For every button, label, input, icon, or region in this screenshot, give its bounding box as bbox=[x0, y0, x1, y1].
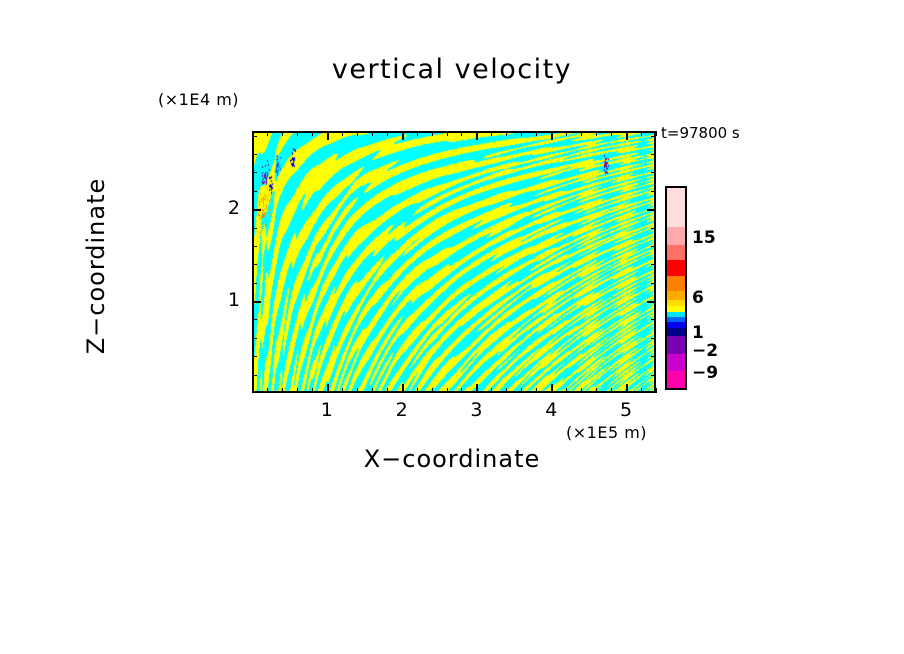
tick-x-minor bbox=[432, 388, 433, 393]
tick-x-major-top bbox=[626, 131, 628, 140]
colorbar-band bbox=[667, 336, 685, 353]
y-axis-title: Z−coordinate bbox=[82, 106, 110, 426]
tick-x-minor bbox=[566, 388, 567, 393]
tick-y-minor-right bbox=[651, 228, 656, 229]
x-tick-label: 1 bbox=[307, 399, 347, 421]
tick-y-minor-right bbox=[651, 375, 656, 376]
tick-x-minor-top bbox=[297, 131, 298, 136]
x-axis-unit-label: (×1E5 m) bbox=[566, 423, 647, 442]
tick-x-minor bbox=[536, 388, 537, 393]
tick-y-minor bbox=[252, 375, 257, 376]
colorbar-tick-label: −9 bbox=[692, 363, 718, 383]
tick-x-major-top bbox=[476, 131, 478, 140]
tick-y-minor bbox=[252, 172, 257, 173]
tick-x-major bbox=[327, 384, 329, 393]
tick-x-major-top bbox=[551, 131, 553, 140]
tick-y-minor-right bbox=[651, 319, 656, 320]
colorbar-band bbox=[667, 227, 685, 244]
tick-x-major bbox=[476, 384, 478, 393]
tick-y-minor-right bbox=[651, 172, 656, 173]
tick-x-minor bbox=[267, 388, 268, 393]
tick-x-minor-top bbox=[267, 131, 268, 136]
colorbar-tick-label: 1 bbox=[692, 323, 704, 343]
tick-x-minor-top bbox=[521, 131, 522, 136]
figure-root: vertical velocity (×1E4 m) (×1E5 m) X−co… bbox=[0, 0, 904, 654]
tick-x-minor-top bbox=[656, 131, 657, 136]
tick-y-minor bbox=[252, 191, 257, 192]
colorbar-band bbox=[667, 188, 685, 227]
tick-x-minor-top bbox=[282, 131, 283, 136]
y-tick-label: 1 bbox=[200, 289, 240, 311]
tick-x-major bbox=[626, 384, 628, 393]
tick-y-major-right bbox=[647, 209, 656, 211]
colorbar-band bbox=[667, 260, 685, 276]
tick-x-minor-top bbox=[581, 131, 582, 136]
tick-x-minor bbox=[581, 388, 582, 393]
tick-x-major-top bbox=[402, 131, 404, 140]
tick-y-minor bbox=[252, 356, 257, 357]
tick-y-major-right bbox=[647, 301, 656, 303]
x-tick-label: 3 bbox=[456, 399, 496, 421]
tick-y-minor bbox=[252, 246, 257, 247]
colorbar-band bbox=[667, 328, 685, 337]
tick-x-minor bbox=[357, 388, 358, 393]
tick-y-minor bbox=[252, 319, 257, 320]
tick-x-minor-top bbox=[417, 131, 418, 136]
tick-y-minor-right bbox=[651, 264, 656, 265]
tick-y-major bbox=[252, 209, 261, 211]
tick-x-minor bbox=[521, 388, 522, 393]
tick-y-minor bbox=[252, 154, 257, 155]
tick-x-minor-top bbox=[447, 131, 448, 136]
tick-x-minor bbox=[447, 388, 448, 393]
tick-y-minor-right bbox=[651, 356, 656, 357]
colorbar-band bbox=[667, 354, 685, 371]
tick-y-minor-right bbox=[651, 136, 656, 137]
tick-x-minor-top bbox=[432, 131, 433, 136]
tick-x-minor bbox=[387, 388, 388, 393]
contour-field bbox=[254, 133, 654, 391]
colorbar-band bbox=[667, 371, 685, 388]
tick-y-minor bbox=[252, 228, 257, 229]
tick-x-minor-top bbox=[372, 131, 373, 136]
tick-x-major-top bbox=[327, 131, 329, 140]
tick-x-minor-top bbox=[461, 131, 462, 136]
tick-y-minor-right bbox=[651, 283, 656, 284]
plot-area bbox=[252, 131, 656, 393]
tick-x-minor bbox=[312, 388, 313, 393]
tick-y-major bbox=[252, 301, 261, 303]
tick-x-major bbox=[402, 384, 404, 393]
tick-x-minor-top bbox=[566, 131, 567, 136]
tick-x-minor bbox=[611, 388, 612, 393]
tick-x-major bbox=[551, 384, 553, 393]
tick-x-minor bbox=[297, 388, 298, 393]
tick-x-minor-top bbox=[536, 131, 537, 136]
colorbar-band bbox=[667, 291, 685, 300]
tick-x-minor bbox=[342, 388, 343, 393]
colorbar-tick-label: 15 bbox=[692, 228, 716, 248]
tick-x-minor-top bbox=[641, 131, 642, 136]
x-axis-title: X−coordinate bbox=[0, 445, 904, 473]
tick-x-minor bbox=[596, 388, 597, 393]
colorbar-tick-label: −2 bbox=[692, 341, 718, 361]
y-tick-label: 2 bbox=[200, 197, 240, 219]
tick-x-minor bbox=[461, 388, 462, 393]
colorbar-band bbox=[667, 245, 685, 261]
tick-x-minor-top bbox=[611, 131, 612, 136]
x-tick-label: 2 bbox=[382, 399, 422, 421]
timestamp-annotation: t=97800 s bbox=[661, 124, 740, 142]
tick-x-minor bbox=[506, 388, 507, 393]
tick-y-minor bbox=[252, 283, 257, 284]
x-tick-label: 4 bbox=[531, 399, 571, 421]
page-title: vertical velocity bbox=[0, 54, 904, 85]
x-tick-label: 5 bbox=[606, 399, 646, 421]
tick-x-minor bbox=[372, 388, 373, 393]
colorbar-band bbox=[667, 276, 685, 291]
tick-x-minor-top bbox=[491, 131, 492, 136]
tick-x-minor-top bbox=[596, 131, 597, 136]
colorbar-tick-label: 6 bbox=[692, 288, 704, 308]
tick-y-minor-right bbox=[651, 191, 656, 192]
tick-x-minor bbox=[641, 388, 642, 393]
colorbar bbox=[665, 186, 687, 390]
tick-x-minor-top bbox=[312, 131, 313, 136]
tick-y-minor bbox=[252, 136, 257, 137]
tick-y-minor bbox=[252, 338, 257, 339]
tick-x-minor-top bbox=[342, 131, 343, 136]
tick-x-minor-top bbox=[506, 131, 507, 136]
tick-x-minor-top bbox=[357, 131, 358, 136]
tick-x-minor-top bbox=[387, 131, 388, 136]
tick-x-minor bbox=[491, 388, 492, 393]
tick-y-minor bbox=[252, 264, 257, 265]
tick-x-minor bbox=[656, 388, 657, 393]
tick-x-minor bbox=[282, 388, 283, 393]
y-axis-unit-label: (×1E4 m) bbox=[158, 90, 239, 109]
tick-y-minor-right bbox=[651, 338, 656, 339]
tick-x-minor bbox=[417, 388, 418, 393]
tick-y-minor-right bbox=[651, 246, 656, 247]
tick-y-minor-right bbox=[651, 154, 656, 155]
